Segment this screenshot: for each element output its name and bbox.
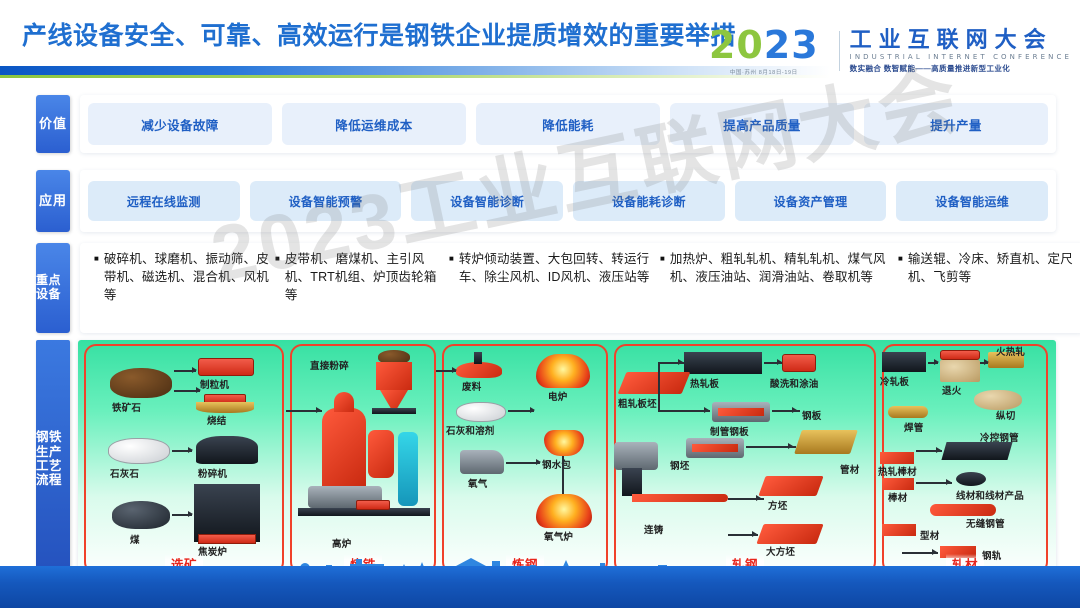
node-label: 焊管 xyxy=(904,420,923,434)
cold-control-pipe-icon xyxy=(941,442,1012,460)
iron-ore-icon xyxy=(110,368,172,398)
stage-ore-dressing[interactable]: 铁矿石 制粒机 烧结 石灰石 粉碎机 煤 焦炭炉 xyxy=(84,344,284,574)
seamless-pipe-icon xyxy=(930,504,996,516)
stage-steelmaking[interactable]: 废料 石灰和溶剂 氧气 电炉 钢水包 氧气炉 炼钢 xyxy=(442,344,608,574)
node-label: 热轧板 xyxy=(690,376,719,390)
arrow-icon xyxy=(704,407,709,413)
node-label: 钢板 xyxy=(802,408,821,422)
value-chip[interactable]: 降低运维成本 xyxy=(282,103,466,145)
logo-divider xyxy=(839,31,840,71)
application-chip[interactable]: 设备资产管理 xyxy=(735,181,887,221)
section-steel-icon xyxy=(882,524,916,536)
coil-stack-icon xyxy=(974,390,1022,410)
node-label: 粉碎机 xyxy=(198,466,227,480)
node-label: 制粒机 xyxy=(200,377,229,391)
node-label: 废料 xyxy=(462,379,481,393)
node-label: 烧结 xyxy=(207,413,226,427)
electric-furnace-icon xyxy=(536,354,590,388)
hopper-icon xyxy=(376,362,412,390)
equipment-group: ■ 加热炉、粗轧轧机、精轧轧机、煤气风机、液压油站、润滑油站、卷取机等 xyxy=(660,251,892,287)
connector xyxy=(506,462,540,464)
arrow-icon xyxy=(530,407,535,413)
annealing-furnace-icon xyxy=(940,360,980,382)
value-chip[interactable]: 减少设备故障 xyxy=(88,103,272,145)
coke-oven-base-icon xyxy=(198,534,256,544)
application-chip[interactable]: 设备智能运维 xyxy=(896,181,1048,221)
hopper-cone-icon xyxy=(380,390,408,408)
equipment-group: ■ 破碎机、球磨机、振动筛、皮带机、磁选机、混合机、风机等 xyxy=(94,251,269,304)
logo-year-subtitle: 中国·苏州 8月18日-19日 xyxy=(730,68,798,76)
equipment-group: ■ 输送辊、冷床、矫直机、定尺机、飞剪等 xyxy=(898,251,1078,287)
page-title: 产线设备安全、可靠、高效运行是钢铁企业提质增效的重要举措 xyxy=(22,16,736,52)
logo-year-right: 23 xyxy=(764,23,819,67)
arrow-icon xyxy=(536,459,541,465)
arrow-icon xyxy=(196,387,201,393)
value-chip[interactable]: 降低能耗 xyxy=(476,103,660,145)
application-chip-list: 远程在线监测 设备智能预警 设备智能诊断 设备能耗诊断 设备资产管理 设备智能运… xyxy=(80,181,1056,221)
node-label: 制管钢板 xyxy=(710,424,749,438)
bullet-icon: ■ xyxy=(660,251,665,266)
caster-strand-icon xyxy=(632,494,728,502)
hot-rolling-mill-icon xyxy=(684,352,762,374)
node-label: 无缝钢管 xyxy=(966,516,1005,530)
cold-mill-icon xyxy=(882,352,926,372)
node-label: 型材 xyxy=(920,528,939,542)
logo-year-left: 20 xyxy=(709,23,764,67)
hot-rolled-bar-icon xyxy=(880,452,914,464)
blast-furnace-icon xyxy=(322,408,366,486)
sinter-base-icon xyxy=(196,402,254,413)
row-value-body: 减少设备故障 降低运维成本 降低能耗 提高产品质量 提升产量 xyxy=(80,95,1056,153)
connector xyxy=(658,362,660,412)
square-billet-icon xyxy=(758,476,823,496)
application-chip[interactable]: 设备智能诊断 xyxy=(411,181,563,221)
node-label: 氧气炉 xyxy=(544,529,573,543)
application-chip[interactable]: 远程在线监测 xyxy=(88,181,240,221)
arrow-icon xyxy=(936,447,941,453)
gas-tank-icon xyxy=(398,432,418,506)
equipment-text: 加热炉、粗轧轧机、精轧轧机、煤气风机、液压油站、润滑油站、卷取机等 xyxy=(670,251,892,287)
node-label: 冷轧板 xyxy=(880,374,909,388)
arrow-icon xyxy=(777,359,782,365)
arrow-icon xyxy=(188,511,193,517)
row-key-equipment: 重点设备 ■ 破碎机、球磨机、振动筛、皮带机、磁选机、混合机、风机等 ■ 皮带机… xyxy=(36,243,1056,333)
node-label: 退火 xyxy=(942,383,961,397)
row-application: 应用 远程在线监测 设备智能预警 设备智能诊断 设备能耗诊断 设备资产管理 设备… xyxy=(36,170,1056,232)
row-process-flow: 钢铁生产工艺流程 铁矿石 制粒机 烧结 石灰石 粉碎机 煤 焦炭炉 xyxy=(36,340,1056,578)
crane-hook-icon xyxy=(474,352,482,364)
pickling-oiling-icon xyxy=(782,354,816,372)
row-tab-process-flow: 钢铁生产工艺流程 xyxy=(36,340,70,578)
arrow-icon xyxy=(192,367,197,373)
large-square-billet-icon xyxy=(756,524,823,544)
plate-strip-icon xyxy=(718,408,764,416)
row-application-body: 远程在线监测 设备智能预警 设备智能诊断 设备能耗诊断 设备资产管理 设备智能运… xyxy=(80,170,1056,232)
node-label: 棒材 xyxy=(888,490,907,504)
node-label: 冷控钢管 xyxy=(980,430,1019,444)
caster-head-icon xyxy=(614,442,658,470)
logo-year: 2023 xyxy=(709,26,819,64)
node-label: 石灰石 xyxy=(110,466,139,480)
connector xyxy=(562,456,564,494)
node-label: 氧气 xyxy=(468,476,487,490)
stage-rolling[interactable]: 热轧板 酸洗和涂油 粗轧板坯 制管钢板 钢板 钢坯 连铸 方坯 xyxy=(614,344,876,574)
node-label: 热轧棒材 xyxy=(878,464,917,478)
value-chip[interactable]: 提升产量 xyxy=(864,103,1048,145)
oxygen-converter-icon xyxy=(536,494,592,528)
arrow-icon xyxy=(934,359,939,365)
pelletizer-icon xyxy=(198,358,254,376)
limestone-icon xyxy=(108,438,170,464)
node-label: 石灰和溶剂 xyxy=(446,423,495,437)
node-label: 管材 xyxy=(840,462,859,476)
node-label: 高炉 xyxy=(332,536,351,550)
node-label: 大方坯 xyxy=(766,544,795,558)
slide-root: 产线设备安全、可靠、高效运行是钢铁企业提质增效的重要举措 2023 中国·苏州 … xyxy=(0,0,1080,608)
steel-plate-icon xyxy=(794,430,858,454)
logo-slogan: 数实融合 数智赋能——高质量推进新型工业化 xyxy=(850,63,1072,74)
logo-title-cn: 工业互联网大会 xyxy=(850,28,1072,51)
bullet-icon: ■ xyxy=(275,251,280,266)
logo-text-block: 工业互联网大会 INDUSTRIAL INTERNET CONFERENCE 数… xyxy=(850,28,1072,74)
oxygen-plant-icon xyxy=(460,450,504,474)
conference-logo: 2023 中国·苏州 8月18日-19日 工业互联网大会 INDUSTRIAL … xyxy=(709,26,1072,76)
rough-slab-icon xyxy=(618,372,691,394)
row-tab-value: 价值 xyxy=(36,95,70,153)
logo-year-block: 2023 中国·苏州 8月18日-19日 xyxy=(709,26,829,76)
node-label: 电炉 xyxy=(548,389,567,403)
arrow-icon xyxy=(984,359,989,365)
bar-icon xyxy=(882,478,914,490)
wire-coil-icon xyxy=(956,472,986,486)
arrow-icon xyxy=(932,549,937,555)
stage-product-rolling[interactable]: 冷轧板 退火 火热轧 纵切 焊管 冷控钢管 热轧棒材 棒材 线材和线材产品 xyxy=(882,344,1048,574)
torpedo-car-icon xyxy=(356,500,390,510)
node-label: 钢坯 xyxy=(670,458,689,472)
header-green-underline xyxy=(0,75,830,78)
row-value: 价值 减少设备故障 降低运维成本 降低能耗 提高产品质量 提升产量 xyxy=(36,95,1056,153)
row-tab-application: 应用 xyxy=(36,170,70,232)
annealing-top-icon xyxy=(940,350,980,360)
equipment-text: 破碎机、球磨机、振动筛、皮带机、磁选机、混合机、风机等 xyxy=(104,251,269,304)
equipment-text: 转炉倾动装置、大包回转、转运行车、除尘风机、ID风机、液压站等 xyxy=(459,251,654,287)
ladle-icon xyxy=(544,430,584,456)
arrow-icon xyxy=(788,443,793,449)
furnace-top-icon xyxy=(334,392,354,412)
hot-stove-icon xyxy=(368,430,394,478)
node-label: 连铸 xyxy=(644,522,663,536)
process-flow-canvas: 铁矿石 制粒机 烧结 石灰石 粉碎机 煤 焦炭炉 xyxy=(78,340,1056,578)
arrow-icon xyxy=(678,359,683,365)
coal-icon xyxy=(112,501,170,529)
arrow-icon xyxy=(946,479,951,485)
arrow-icon xyxy=(756,495,761,501)
stage-ironmaking[interactable]: 直接粉碎 高炉 炼铁 xyxy=(290,344,436,574)
caster-mold-icon xyxy=(622,468,642,496)
node-label: 铁矿石 xyxy=(112,400,141,414)
bullet-icon: ■ xyxy=(898,251,903,266)
node-label: 粗轧板坯 xyxy=(618,396,657,410)
equipment-text: 皮带机、磨煤机、主引风机、TRT机组、炉顶齿轮箱等 xyxy=(285,251,443,304)
value-chip[interactable]: 提高产品质量 xyxy=(670,103,854,145)
header-gradient-bar xyxy=(0,66,830,75)
arrow-icon xyxy=(188,447,193,453)
value-chip-list: 减少设备故障 降低运维成本 降低能耗 提高产品质量 提升产量 xyxy=(80,103,1056,145)
billet-strip-icon xyxy=(692,444,738,452)
logo-title-en: INDUSTRIAL INTERNET CONFERENCE xyxy=(850,53,1072,61)
node-label: 钢水包 xyxy=(542,457,571,471)
equipment-group: ■ 皮带机、磨煤机、主引风机、TRT机组、炉顶齿轮箱等 xyxy=(275,251,443,304)
scrap-grab-icon xyxy=(456,362,502,378)
node-label: 直接粉碎 xyxy=(310,358,349,372)
row-tab-key-equipment: 重点设备 xyxy=(36,243,70,333)
arrow-icon xyxy=(752,531,757,537)
hopper-base-icon xyxy=(372,408,416,414)
equipment-group: ■ 转炉倾动装置、大包回转、转运行车、除尘风机、ID风机、液压站等 xyxy=(449,251,654,287)
slide-header: 产线设备安全、可靠、高效运行是钢铁企业提质增效的重要举措 2023 中国·苏州 … xyxy=(0,0,1080,90)
arrow-icon xyxy=(452,367,457,373)
node-label: 火热轧 xyxy=(996,344,1025,358)
arrow-icon xyxy=(792,407,797,413)
crusher-icon xyxy=(196,436,258,464)
bullet-icon: ■ xyxy=(94,251,99,266)
node-label: 方坯 xyxy=(768,498,787,512)
node-label: 煤 xyxy=(130,532,140,546)
bullet-icon: ■ xyxy=(449,251,454,266)
welded-pipe-icon xyxy=(888,406,928,418)
node-label: 酸洗和涂油 xyxy=(770,376,819,390)
application-chip[interactable]: 设备能耗诊断 xyxy=(573,181,725,221)
footer-band xyxy=(0,566,1080,608)
row-key-equipment-body: ■ 破碎机、球磨机、振动筛、皮带机、磁选机、混合机、风机等 ■ 皮带机、磨煤机、… xyxy=(80,243,1080,333)
connector xyxy=(658,410,710,412)
application-chip[interactable]: 设备智能预警 xyxy=(250,181,402,221)
arrow-icon xyxy=(316,407,321,413)
node-label: 线材和线材产品 xyxy=(956,488,1024,502)
lime-flux-icon xyxy=(456,402,506,422)
node-label: 纵切 xyxy=(996,408,1015,422)
node-label: 钢轨 xyxy=(982,548,1001,562)
equipment-text: 输送辊、冷床、矫直机、定尺机、飞剪等 xyxy=(908,251,1078,287)
